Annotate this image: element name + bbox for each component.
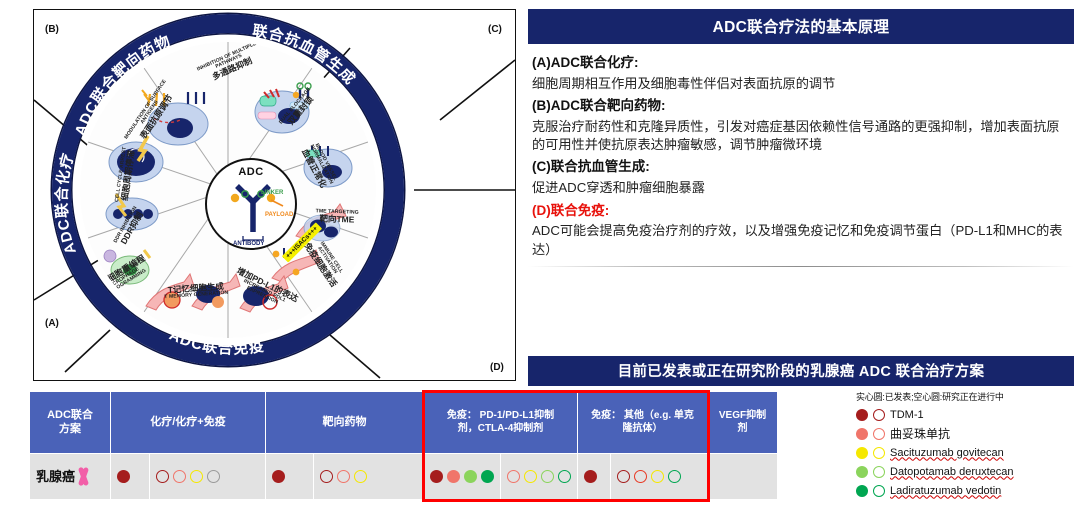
cell-io-other-open <box>610 454 707 500</box>
filled-dot-io-filled-0 <box>430 470 443 483</box>
legend-filled-dot-2 <box>856 447 868 459</box>
col-header-vegf: VEGF抑制剂 <box>708 392 778 454</box>
cell-chemo-open <box>150 454 266 500</box>
combination-table: ADC联合方案 化疗/化疗+免疫 靶向药物 免疫： PD-1/PD-L1抑制剂，… <box>29 391 778 500</box>
principle-head-a: (A)ADC联合化疗: <box>532 55 1070 72</box>
open-dot-chemo-open-3 <box>207 470 220 483</box>
open-dot-io-open-2 <box>541 470 554 483</box>
principle-head-b: (B)ADC联合靶向药物: <box>532 98 1070 115</box>
cell-io-checkpoint-open <box>501 454 578 500</box>
open-dot-other-open-2 <box>651 470 664 483</box>
legend-header: 实心圆:已发表;空心圆:研究正在进行中 <box>856 390 1080 403</box>
legend-open-dot-3 <box>873 466 885 478</box>
principle-title: ADC联合疗法的基本原理 <box>528 9 1074 44</box>
legend-filled-dot-1 <box>856 428 868 440</box>
col-header-chemo: 化疗/化疗+免疫 <box>111 392 266 454</box>
table-row: 乳腺癌 <box>30 454 778 500</box>
filled-dot-other-filled-0 <box>584 470 597 483</box>
open-dot-targeted-open-0 <box>320 470 333 483</box>
legend-open-dot-0 <box>873 409 885 421</box>
cell-targeted-filled <box>266 454 314 500</box>
col-header-regimen: ADC联合方案 <box>30 392 111 454</box>
table-body: 乳腺癌 <box>30 454 778 500</box>
open-dot-chemo-open-0 <box>156 470 169 483</box>
col-header-io-checkpoint: 免疫： PD-1/PD-L1抑制剂，CTLA-4抑制剂 <box>424 392 578 454</box>
open-dot-chemo-open-1 <box>173 470 186 483</box>
open-dot-io-open-3 <box>558 470 571 483</box>
table-title-text: 目前已发表或正在研究阶段的乳腺癌 ADC 联合治疗方案 <box>528 356 1074 386</box>
cell-io-other-filled <box>578 454 611 500</box>
principle-head-c: (C)联合抗血管生成: <box>532 159 1070 176</box>
antibody-label: ANTIBODY <box>233 241 264 247</box>
legend-item-1: 曲妥珠单抗 <box>856 424 1080 443</box>
legend-filled-dot-4 <box>856 485 868 497</box>
row-label-text: 乳腺癌 <box>36 469 75 484</box>
cell-io-checkpoint-filled <box>424 454 501 500</box>
legend-label-3: Datopotamab deruxtecan <box>890 466 1014 478</box>
open-dot-other-open-1 <box>634 470 647 483</box>
adc-molecule-icon <box>207 160 299 252</box>
legend-label-0: TDM-1 <box>890 409 924 421</box>
linker-label: LINKER <box>261 190 283 196</box>
open-dot-io-open-1 <box>524 470 537 483</box>
open-dot-other-open-3 <box>668 470 681 483</box>
legend-item-2: Sacituzumab govitecan <box>856 443 1080 462</box>
cell-vegf <box>708 454 778 500</box>
adc-center-circle: ADC LINKER PAYLOAD ANTIBODY <box>205 158 297 250</box>
principle-head-d: (D)联合免疫: <box>532 203 1070 220</box>
cell-chemo-filled <box>111 454 150 500</box>
open-dot-targeted-open-1 <box>337 470 350 483</box>
open-dot-targeted-open-2 <box>354 470 367 483</box>
open-dot-io-open-0 <box>507 470 520 483</box>
legend-item-4: Ladiratuzumab vedotin <box>856 481 1080 500</box>
table-header-row: ADC联合方案 化疗/化疗+免疫 靶向药物 免疫： PD-1/PD-L1抑制剂，… <box>30 392 778 454</box>
open-dot-chemo-open-2 <box>190 470 203 483</box>
legend-label-2: Sacituzumab govitecan <box>890 447 1004 459</box>
row-label-breast-cancer: 乳腺癌 <box>30 454 111 500</box>
section-divider <box>528 266 1074 267</box>
legend-separator <box>848 389 850 504</box>
payload-label: PAYLOAD <box>265 212 293 218</box>
table-title-bar: 目前已发表或正在研究阶段的乳腺癌 ADC 联合治疗方案 <box>528 356 1074 382</box>
principle-text-b: 克服治疗耐药性和克隆异质性，引发对癌症基因依赖性信号通路的更强抑制，增加表面抗原… <box>532 118 1070 154</box>
legend-open-dot-2 <box>873 447 885 459</box>
legend: 实心圆:已发表;空心圆:研究正在进行中 TDM-1曲妥珠单抗Sacituzuma… <box>856 389 1080 504</box>
principle-text-d: ADC可能会提高免疫治疗剂的疗效，以及增强免疫记忆和免疫调节蛋白（PD-L1和M… <box>532 222 1070 258</box>
principle-panel: ADC联合疗法的基本原理 (A)ADC联合化疗: 细胞周期相互作用及细胞毒性伴侣… <box>528 9 1074 347</box>
open-dot-other-open-0 <box>617 470 630 483</box>
filled-dot-io-filled-3 <box>481 470 494 483</box>
col-header-targeted: 靶向药物 <box>266 392 424 454</box>
legend-filled-dot-3 <box>856 466 868 478</box>
table-head: ADC联合方案 化疗/化疗+免疫 靶向药物 免疫： PD-1/PD-L1抑制剂，… <box>30 392 778 454</box>
col-header-io-other: 免疫： 其他（e.g. 单克隆抗体） <box>578 392 708 454</box>
pink-ribbon-icon <box>76 467 90 487</box>
legend-filled-dot-0 <box>856 409 868 421</box>
principle-text-a: 细胞周期相互作用及细胞毒性伴侣对表面抗原的调节 <box>532 75 1070 93</box>
filled-dot-io-filled-2 <box>464 470 477 483</box>
legend-open-dot-1 <box>873 428 885 440</box>
filled-dot-chemo-filled-0 <box>117 470 130 483</box>
cell-targeted-open <box>313 454 423 500</box>
filled-dot-io-filled-1 <box>447 470 460 483</box>
adc-mechanism-diagram: (B) (C) (A) (D) ADC联合靶向药物 联合抗血管生成 ADC联合免… <box>0 0 524 388</box>
legend-item-0: TDM-1 <box>856 405 1080 424</box>
filled-dot-targeted-filled-0 <box>272 470 285 483</box>
legend-label-1: 曲妥珠单抗 <box>890 425 950 442</box>
legend-open-dot-4 <box>873 485 885 497</box>
legend-item-3: Datopotamab deruxtecan <box>856 462 1080 481</box>
principle-text-c: 促进ADC穿透和肿瘤细胞暴露 <box>532 179 1070 197</box>
legend-label-4: Ladiratuzumab vedotin <box>890 485 1001 497</box>
legend-rows: TDM-1曲妥珠单抗Sacituzumab govitecanDatopotam… <box>856 405 1080 500</box>
principle-body: (A)ADC联合化疗: 细胞周期相互作用及细胞毒性伴侣对表面抗原的调节 (B)A… <box>528 44 1074 259</box>
